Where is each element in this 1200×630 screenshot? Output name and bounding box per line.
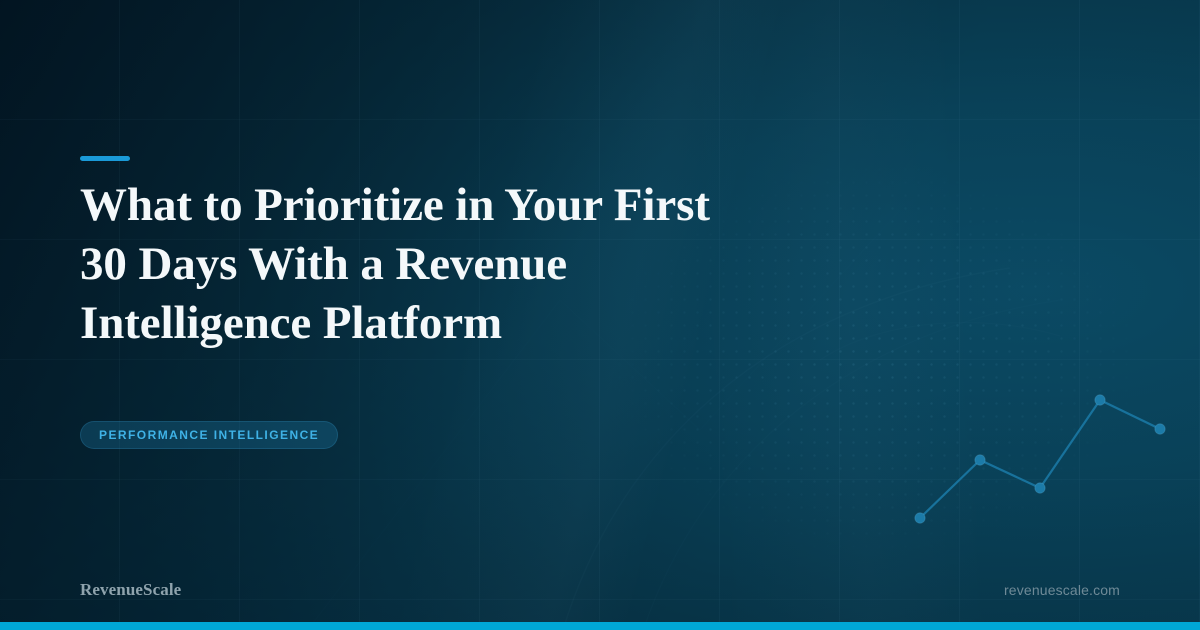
card-content: What to Prioritize in Your First 30 Days… bbox=[0, 0, 1200, 630]
social-share-card: What to Prioritize in Your First 30 Days… bbox=[0, 0, 1200, 630]
site-url: revenuescale.com bbox=[1004, 582, 1120, 598]
bottom-accent-stripe bbox=[0, 622, 1200, 630]
brand-wordmark: RevenueScale bbox=[80, 580, 181, 600]
headline-line-1: What to Prioritize in Your First bbox=[80, 176, 780, 235]
headline-line-3: Intelligence Platform bbox=[80, 294, 780, 353]
page-title: What to Prioritize in Your First 30 Days… bbox=[80, 176, 780, 353]
headline-line-2: 30 Days With a Revenue bbox=[80, 235, 780, 294]
category-badge-label: PERFORMANCE INTELLIGENCE bbox=[99, 429, 319, 441]
accent-rule bbox=[80, 156, 130, 161]
category-badge: PERFORMANCE INTELLIGENCE bbox=[80, 421, 338, 449]
